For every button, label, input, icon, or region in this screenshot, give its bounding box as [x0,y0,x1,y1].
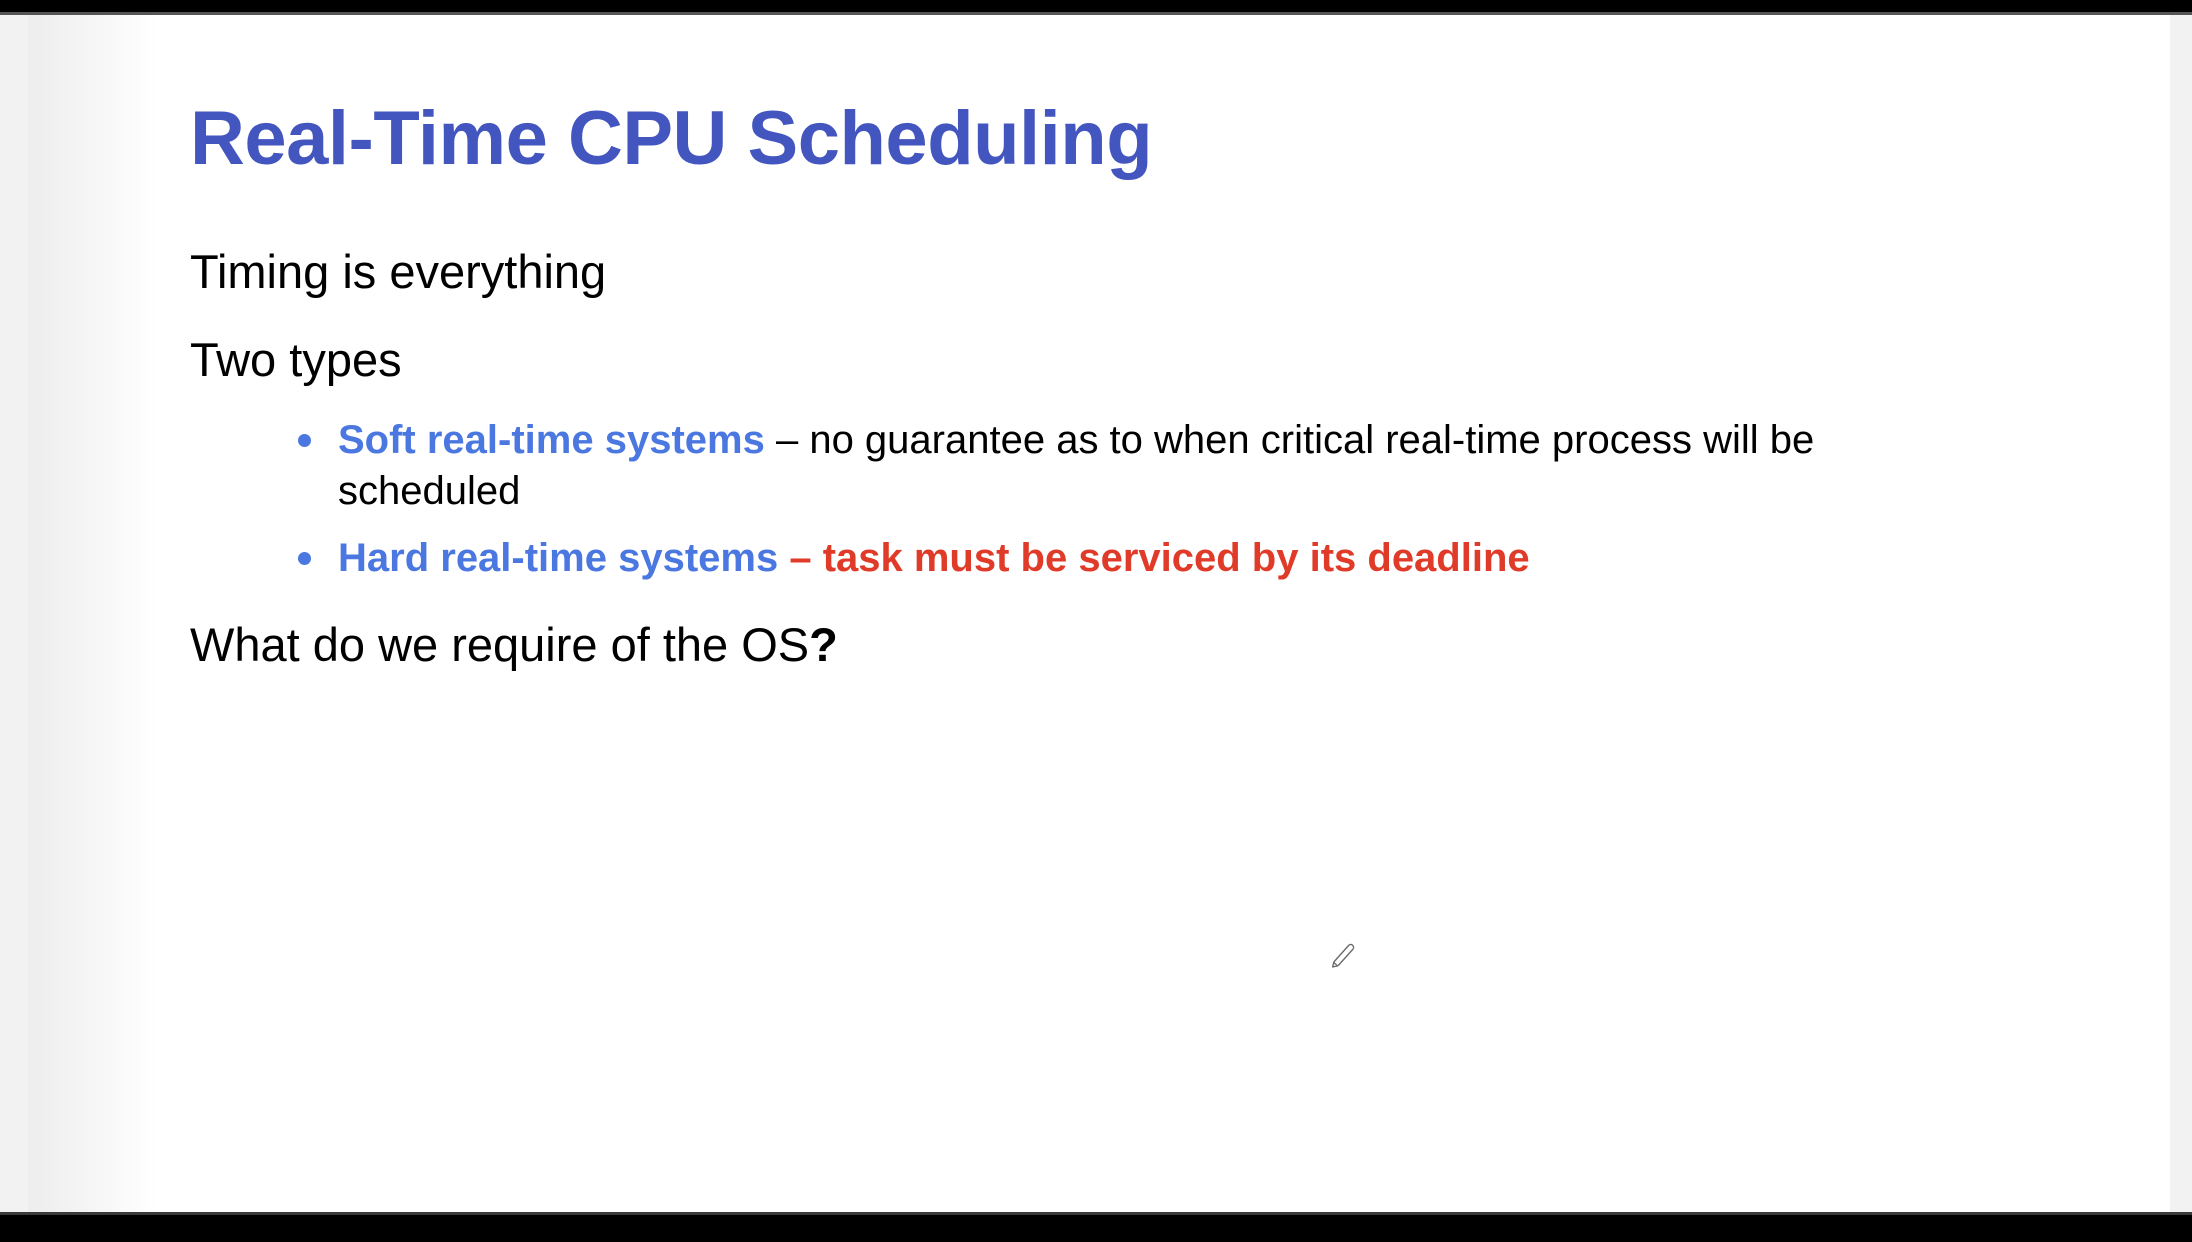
letterbox-top-bar [0,0,2192,12]
bullet-term-soft: Soft real-time systems [338,418,765,462]
gutter-left [0,12,28,1215]
list-item: Hard real-time systems – task must be se… [296,533,1996,584]
body-line-what-require: What do we require of the OS? [190,620,838,669]
body-line-two-types: Two types [190,335,402,384]
gutter-right [2170,12,2192,1215]
slide-title: Real-Time CPU Scheduling [190,101,1152,177]
letterbox-bottom-bar [0,1215,2192,1242]
what-require-question-mark: ? [809,618,838,671]
slide-canvas[interactable]: Real-Time CPU Scheduling Timing is every… [28,15,2170,1215]
what-require-text: What do we require of the OS [190,618,809,671]
body-line-timing: Timing is everything [190,247,606,296]
bullet-dot-icon [298,434,311,447]
list-item: Soft real-time systems – no guarantee as… [296,415,1996,517]
letterbox-top-divider [0,12,2192,15]
bullet-dot-icon [298,552,311,565]
bullet-list: Soft real-time systems – no guarantee as… [296,415,1996,591]
bullet-body-hard: – task must be serviced by its deadline [778,536,1529,580]
bullet-term-hard: Hard real-time systems [338,536,778,580]
presentation-viewer: Real-Time CPU Scheduling Timing is every… [0,0,2192,1242]
pen-cursor-icon [1326,940,1360,974]
